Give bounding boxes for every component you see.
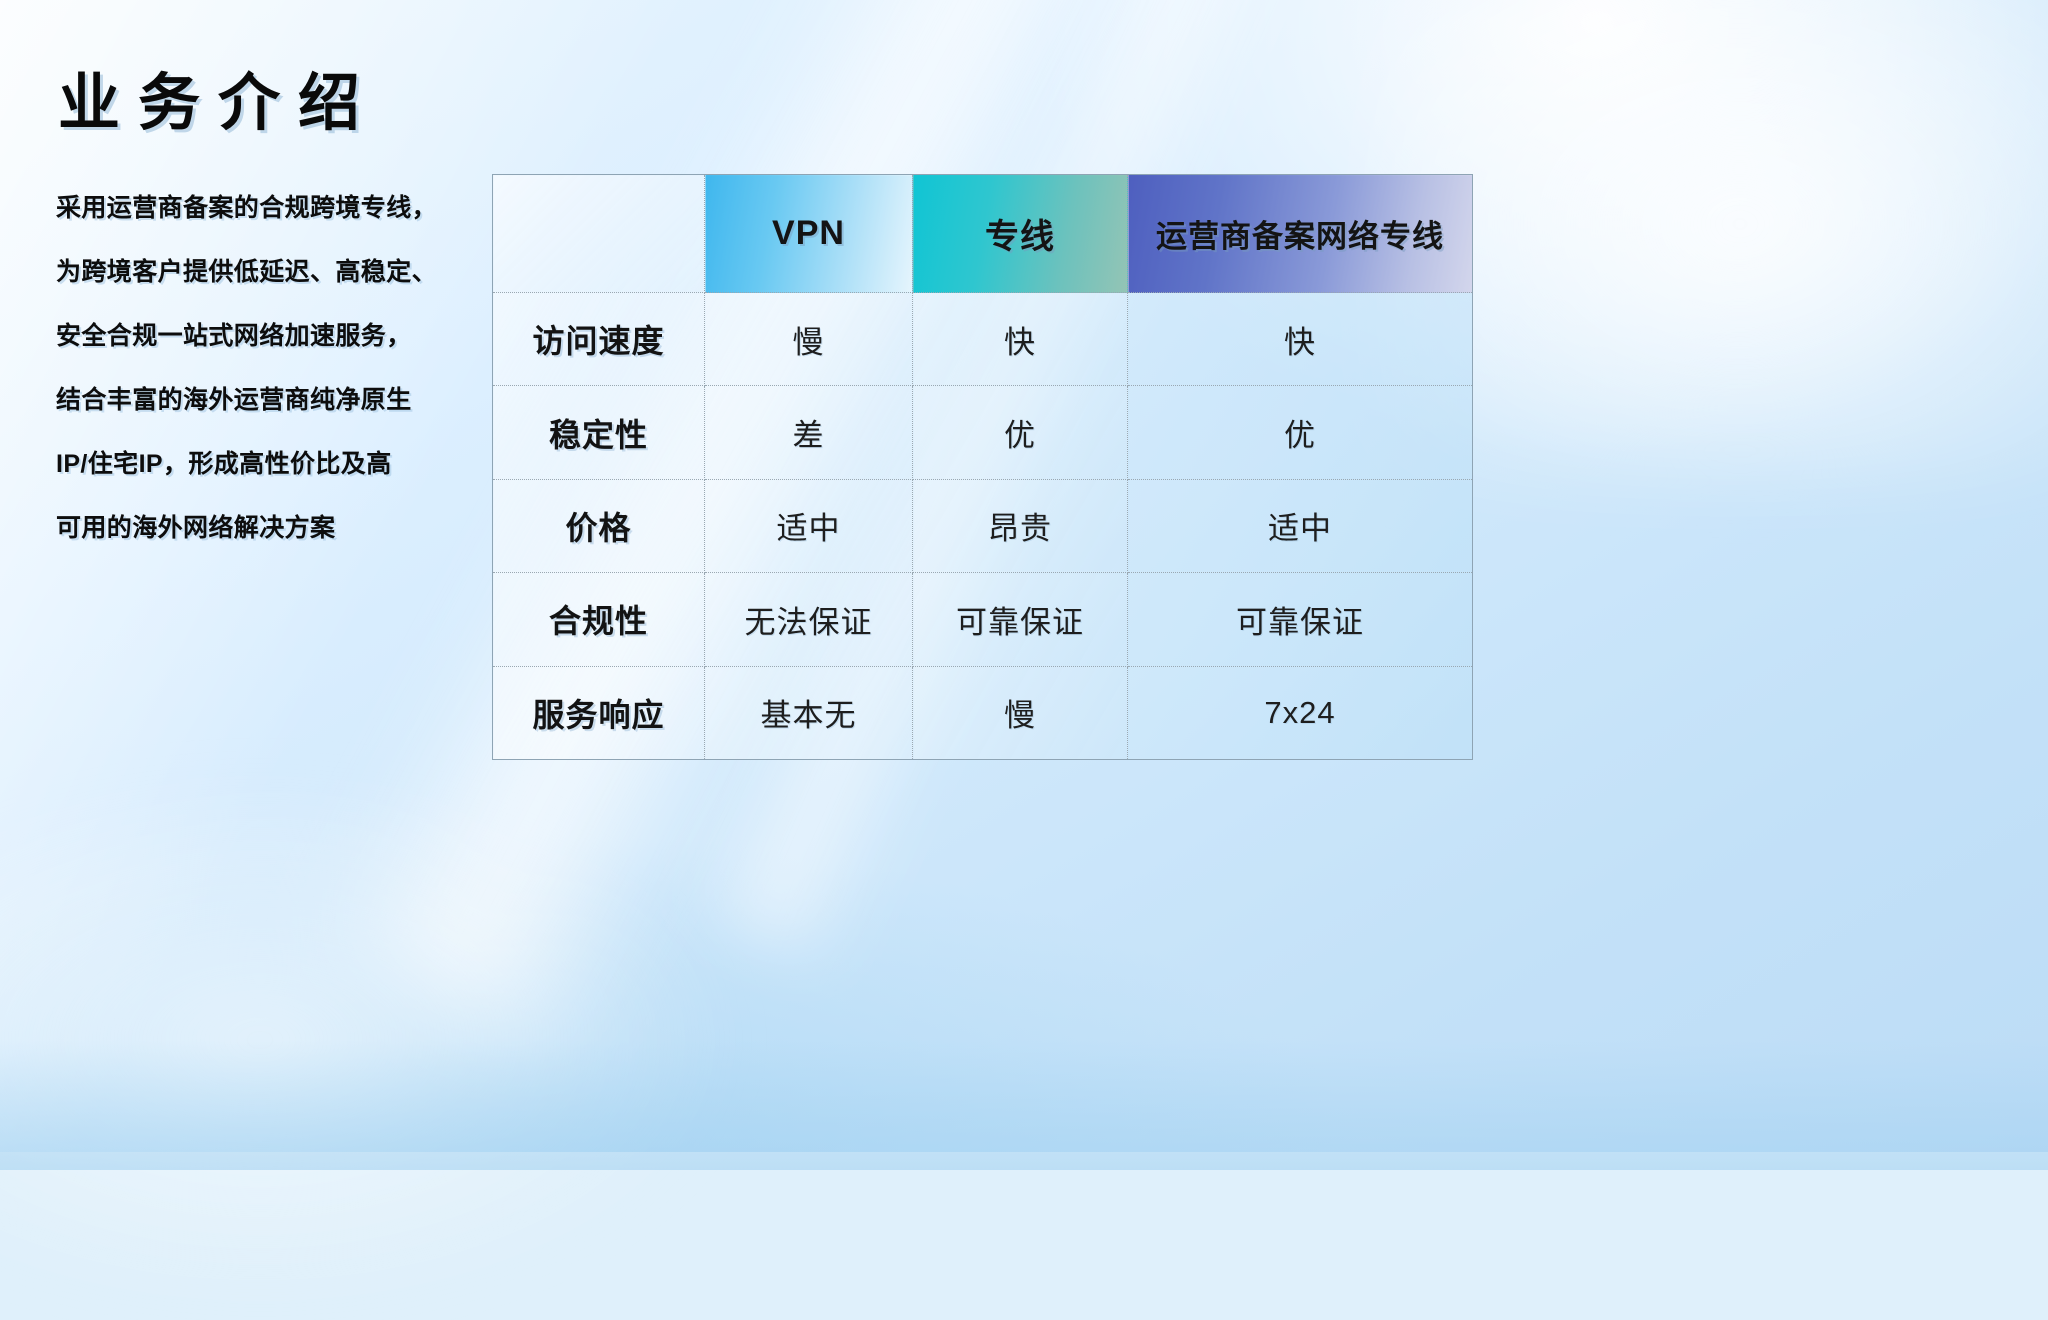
table-cell-value: 可靠保证 — [1236, 605, 1364, 640]
intro-line: 采用运营商备案的合规跨境专线， — [56, 176, 486, 240]
slide-background: 业务介绍 采用运营商备案的合规跨境专线， 为跨境客户提供低延迟、高稳定、 安全合… — [0, 0, 2048, 1152]
table-header-label-vpn: VPN — [772, 214, 845, 253]
table-cell-dedicated-line: 优 — [913, 386, 1128, 479]
table-header: VPN 专线 运营商备案网络专线 — [493, 175, 1473, 293]
table-row-label: 稳定性 — [549, 417, 648, 453]
table-cell-value: 7x24 — [1264, 695, 1335, 730]
table-cell-carrier-line: 快 — [1128, 293, 1473, 386]
table-row: 稳定性 差 优 优 — [493, 386, 1473, 479]
table-cell-dedicated-line: 可靠保证 — [913, 573, 1128, 666]
table-cell-vpn: 适中 — [705, 479, 913, 572]
table-cell-vpn: 无法保证 — [705, 573, 913, 666]
decorative-glow-bottom-left — [0, 760, 760, 1320]
table-row-label-cell: 服务响应 — [493, 666, 705, 759]
table-header-label-carrier-line: 运营商备案网络专线 — [1156, 211, 1444, 256]
table-cell-value: 慢 — [793, 325, 825, 360]
table-cell-value: 适中 — [1268, 511, 1332, 546]
table-cell-vpn: 基本无 — [705, 666, 913, 759]
table-cell-carrier-line: 优 — [1128, 386, 1473, 479]
table-header-label-dedicated-line: 专线 — [985, 209, 1055, 258]
table-cell-value: 优 — [1284, 418, 1316, 453]
table-cell-value: 昂贵 — [988, 511, 1052, 546]
table-row-label-cell: 合规性 — [493, 573, 705, 666]
table-row: 访问速度 慢 快 快 — [493, 293, 1473, 386]
intro-paragraph: 采用运营商备案的合规跨境专线， 为跨境客户提供低延迟、高稳定、 安全合规一站式网… — [56, 176, 486, 560]
table-cell-carrier-line: 7x24 — [1128, 666, 1473, 759]
table-row-label-cell: 价格 — [493, 479, 705, 572]
page-title: 业务介绍 — [58, 52, 378, 142]
table-cell-carrier-line: 适中 — [1128, 479, 1473, 572]
intro-line: IP/住宅IP，形成高性价比及高 — [56, 432, 486, 496]
table-cell-value: 慢 — [1004, 698, 1036, 733]
table-cell-value: 基本无 — [761, 698, 857, 733]
table-row: 合规性 无法保证 可靠保证 可靠保证 — [493, 573, 1473, 666]
table-row-label-cell: 访问速度 — [493, 293, 705, 386]
table-row-label: 合规性 — [549, 603, 648, 639]
table-body: 访问速度 慢 快 快 稳定性 差 优 优 价格 适中 昂贵 适中 合规性 无法保… — [493, 293, 1473, 760]
decorative-glow-top-right — [1380, 0, 2048, 480]
table-row: 价格 适中 昂贵 适中 — [493, 479, 1473, 572]
table-header-cell-blank — [493, 175, 705, 293]
table-row-label-cell: 稳定性 — [493, 386, 705, 479]
table-cell-value: 可靠保证 — [956, 605, 1084, 640]
table-cell-dedicated-line: 慢 — [913, 666, 1128, 759]
table-row-label: 访问速度 — [532, 323, 664, 359]
table-header-cell-vpn: VPN — [705, 175, 913, 293]
intro-line: 为跨境客户提供低延迟、高稳定、 — [56, 240, 486, 304]
intro-line: 可用的海外网络解决方案 — [56, 496, 486, 560]
table-cell-value: 适中 — [777, 511, 841, 546]
table-cell-carrier-line: 可靠保证 — [1128, 573, 1473, 666]
table-cell-vpn: 慢 — [705, 293, 913, 386]
decorative-bottom-band — [0, 1040, 2048, 1170]
table-row-label: 服务响应 — [532, 697, 664, 733]
table-cell-value: 快 — [1004, 325, 1036, 360]
table-header-cell-dedicated-line: 专线 — [913, 175, 1128, 293]
intro-line: 结合丰富的海外运营商纯净原生 — [56, 368, 486, 432]
table-header-row: VPN 专线 运营商备案网络专线 — [493, 175, 1473, 293]
table-cell-dedicated-line: 快 — [913, 293, 1128, 386]
table-cell-vpn: 差 — [705, 386, 913, 479]
comparison-table: VPN 专线 运营商备案网络专线 访问速度 慢 快 快 稳定性 差 优 — [492, 174, 1473, 760]
table-cell-value: 快 — [1284, 325, 1316, 360]
table-cell-value: 差 — [793, 418, 825, 453]
intro-line: 安全合规一站式网络加速服务， — [56, 304, 486, 368]
table-header-cell-carrier-line: 运营商备案网络专线 — [1128, 175, 1473, 293]
table-row: 服务响应 基本无 慢 7x24 — [493, 666, 1473, 759]
table-row-label: 价格 — [565, 510, 631, 546]
table-cell-dedicated-line: 昂贵 — [913, 479, 1128, 572]
table-cell-value: 无法保证 — [745, 605, 873, 640]
table-cell-value: 优 — [1004, 418, 1036, 453]
